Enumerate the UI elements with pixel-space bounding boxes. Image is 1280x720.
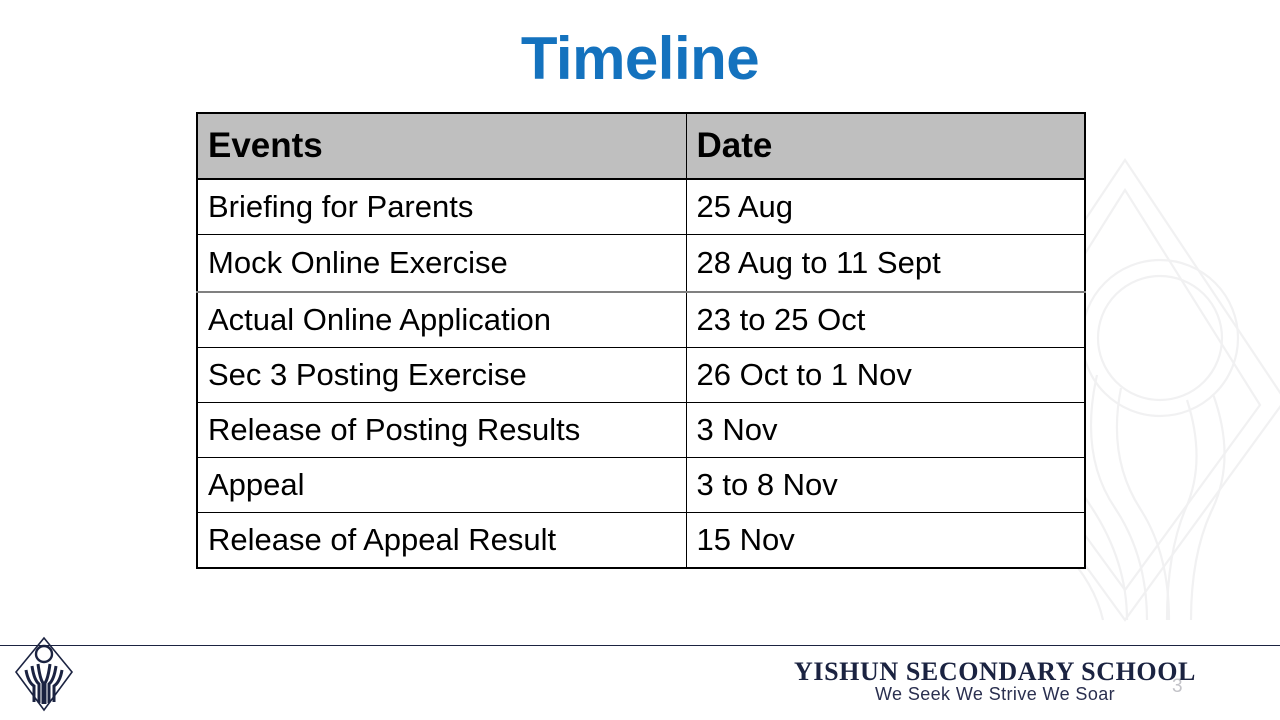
cell-date: 28 Aug to 11 Sept [686,235,1085,293]
cell-date: 3 to 8 Nov [686,458,1085,513]
page-number: 3 [1172,676,1183,698]
table-header-row: Events Date [197,113,1085,179]
cell-event: Actual Online Application [197,292,686,348]
cell-event: Appeal [197,458,686,513]
table-row: Sec 3 Posting Exercise 26 Oct to 1 Nov [197,348,1085,403]
footer-school-name: YISHUN SECONDARY SCHOOL [760,657,1230,687]
column-header-date: Date [686,113,1085,179]
cell-date: 15 Nov [686,513,1085,569]
cell-date: 26 Oct to 1 Nov [686,348,1085,403]
cell-event: Release of Appeal Result [197,513,686,569]
table-row: Mock Online Exercise 28 Aug to 11 Sept [197,235,1085,293]
table-body: Briefing for Parents 25 Aug Mock Online … [197,179,1085,568]
table-row: Briefing for Parents 25 Aug [197,179,1085,235]
cell-event: Mock Online Exercise [197,235,686,293]
footer-divider [0,645,1280,646]
column-header-events: Events [197,113,686,179]
slide-canvas: Timeline Events Date Briefing for Parent… [0,0,1280,720]
cell-event: Release of Posting Results [197,403,686,458]
table-row: Release of Appeal Result 15 Nov [197,513,1085,569]
page-title: Timeline [0,26,1280,92]
cell-date: 23 to 25 Oct [686,292,1085,348]
table-row: Release of Posting Results 3 Nov [197,403,1085,458]
cell-date: 25 Aug [686,179,1085,235]
cell-event: Sec 3 Posting Exercise [197,348,686,403]
cell-event: Briefing for Parents [197,179,686,235]
cell-date: 3 Nov [686,403,1085,458]
timeline-table: Events Date Briefing for Parents 25 Aug … [196,112,1086,569]
table-row: Appeal 3 to 8 Nov [197,458,1085,513]
table-header: Events Date [197,113,1085,179]
table-row: Actual Online Application 23 to 25 Oct [197,292,1085,348]
school-crest-icon [14,636,74,712]
footer-tagline: We Seek We Strive We Soar [760,684,1230,705]
